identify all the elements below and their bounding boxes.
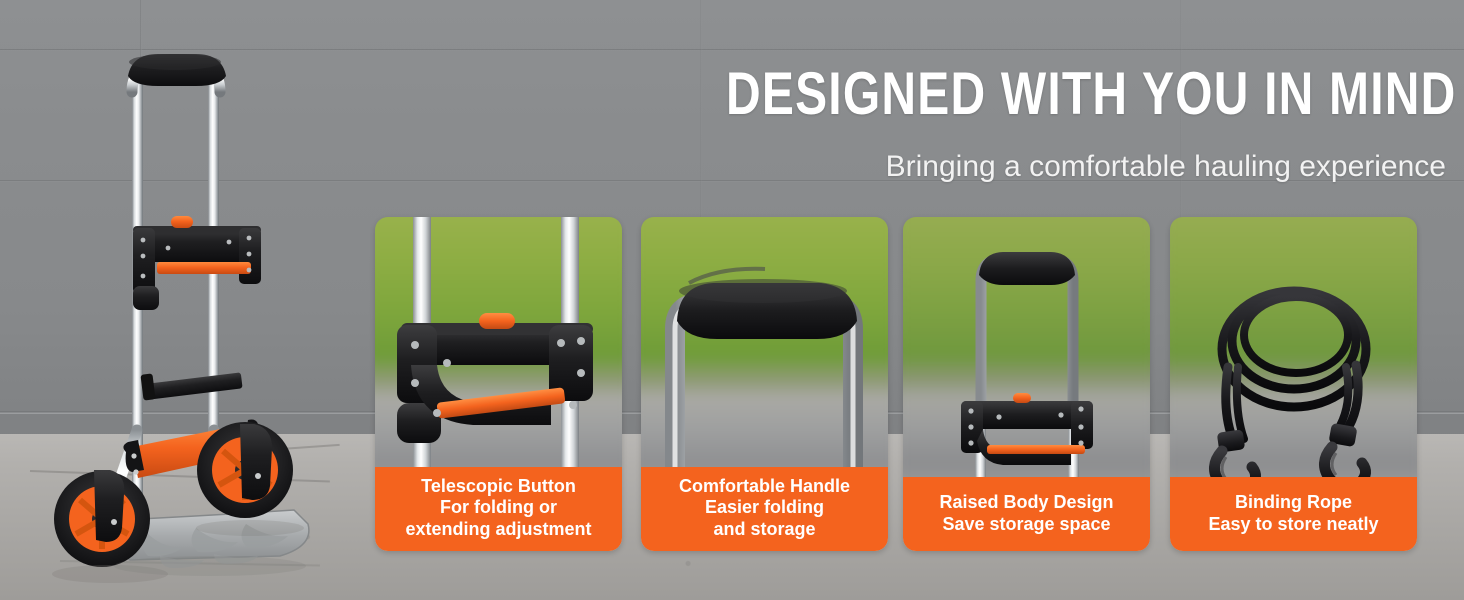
feature-card-comfortable-handle[interactable]: Comfortable Handle Easier folding and st…	[641, 217, 888, 551]
caption-line: Save storage space	[909, 514, 1144, 536]
card-caption-raised-body-design: Raised Body Design Save storage space	[903, 477, 1150, 551]
caption-line: Binding Rope	[1176, 492, 1411, 514]
card-caption-binding-rope: Binding Rope Easy to store neatly	[1170, 477, 1417, 551]
caption-line: extending adjustment	[381, 519, 616, 541]
card-caption-telescopic-button: Telescopic Button For folding or extendi…	[375, 467, 622, 552]
feature-card-binding-rope[interactable]: Binding Rope Easy to store neatly	[1170, 217, 1417, 551]
feature-card-raised-body-design[interactable]: Raised Body Design Save storage space	[903, 217, 1150, 551]
caption-line: Easier folding	[647, 497, 882, 519]
caption-line: Easy to store neatly	[1176, 514, 1411, 536]
product-feature-banner: DESIGNED WITH YOU IN MIND Bringing a com…	[0, 0, 1464, 600]
caption-line: For folding or	[381, 497, 616, 519]
caption-line: Comfortable Handle	[647, 476, 882, 498]
feature-card-row: Telescopic Button For folding or extendi…	[0, 0, 1464, 600]
caption-line: Raised Body Design	[909, 492, 1144, 514]
feature-card-telescopic-button[interactable]: Telescopic Button For folding or extendi…	[375, 217, 622, 551]
caption-line: and storage	[647, 519, 882, 541]
card-caption-comfortable-handle: Comfortable Handle Easier folding and st…	[641, 467, 888, 552]
caption-line: Telescopic Button	[381, 476, 616, 498]
